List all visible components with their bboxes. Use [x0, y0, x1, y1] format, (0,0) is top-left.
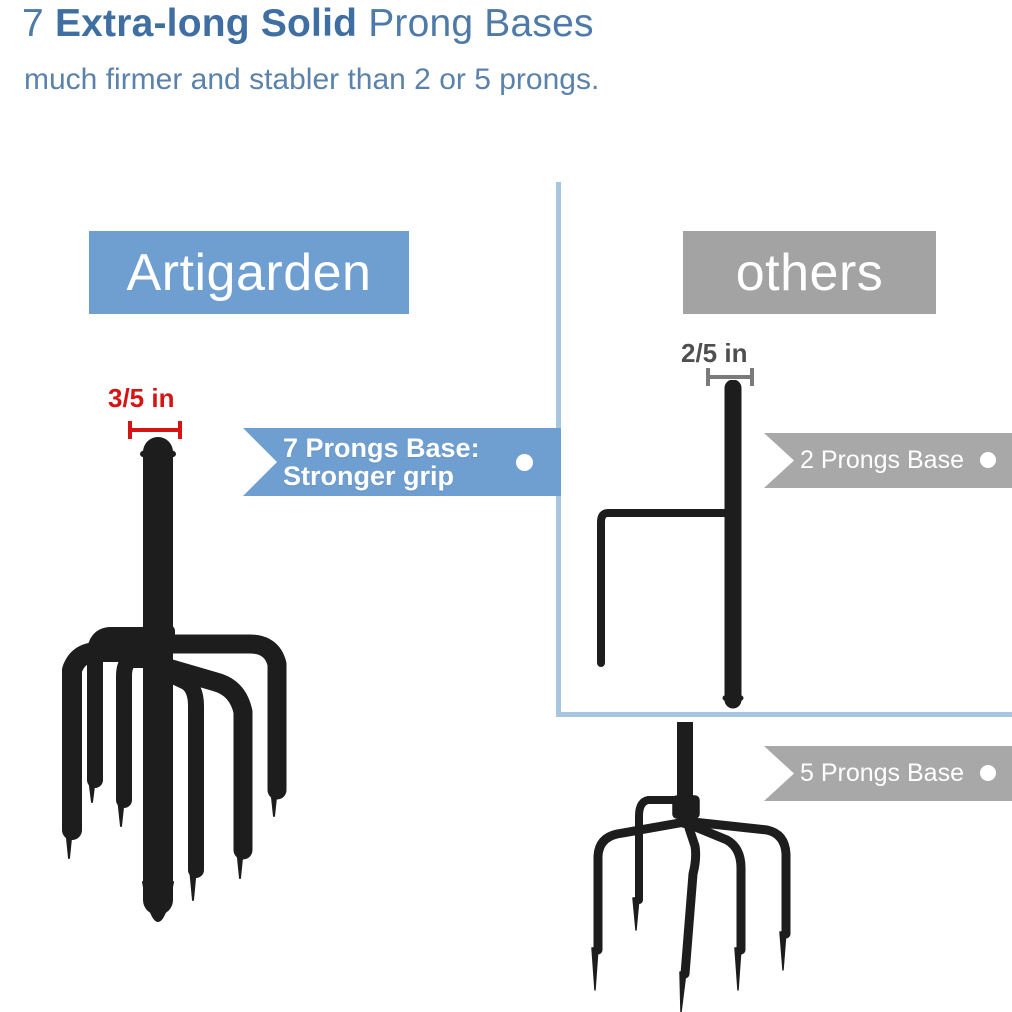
- bullet-dot-icon: [516, 454, 533, 471]
- dimension-line-icon: [706, 375, 754, 379]
- infographic-canvas: 7 Extra-long Solid Prong Bases much firm…: [0, 0, 1012, 1011]
- callout-ribbon-two-prong: 2 Prongs Base: [764, 433, 1012, 488]
- product-image-seven-prong: [0, 430, 340, 990]
- dimension-label-others: 2/5 in: [681, 338, 747, 369]
- title-lead: 7: [22, 2, 55, 45]
- bullet-dot-icon: [980, 765, 996, 781]
- dimension-label-artigarden: 3/5 in: [108, 383, 174, 414]
- bullet-dot-icon: [980, 452, 996, 468]
- brand-badge-others: others: [683, 231, 936, 314]
- brand-badge-artigarden: Artigarden: [89, 231, 409, 314]
- brand-badge-artigarden-label: Artigarden: [127, 243, 372, 303]
- horizontal-divider: [556, 712, 1012, 717]
- callout-ribbon-seven-prong: 7 Prongs Base: Stronger grip: [243, 428, 561, 496]
- title-tail: Prong Bases: [357, 2, 594, 45]
- page-title: 7 Extra-long Solid Prong Bases: [22, 2, 594, 46]
- page-subtitle: much firmer and stabler than 2 or 5 pron…: [24, 63, 599, 97]
- callout-line-1: 7 Prongs Base:: [283, 434, 480, 462]
- brand-badge-others-label: others: [736, 243, 884, 303]
- callout-ribbon-seven-prong-text: 7 Prongs Base: Stronger grip: [283, 434, 480, 491]
- callout-line-2: Stronger grip: [283, 462, 480, 490]
- product-image-two-prong: [575, 380, 805, 710]
- callout-ribbon-two-prong-label: 2 Prongs Base: [800, 447, 964, 473]
- callout-ribbon-five-prong: 5 Prongs Base: [764, 746, 1012, 801]
- callout-ribbon-five-prong-label: 5 Prongs Base: [800, 760, 964, 786]
- title-emphasis: Extra-long Solid: [55, 2, 357, 45]
